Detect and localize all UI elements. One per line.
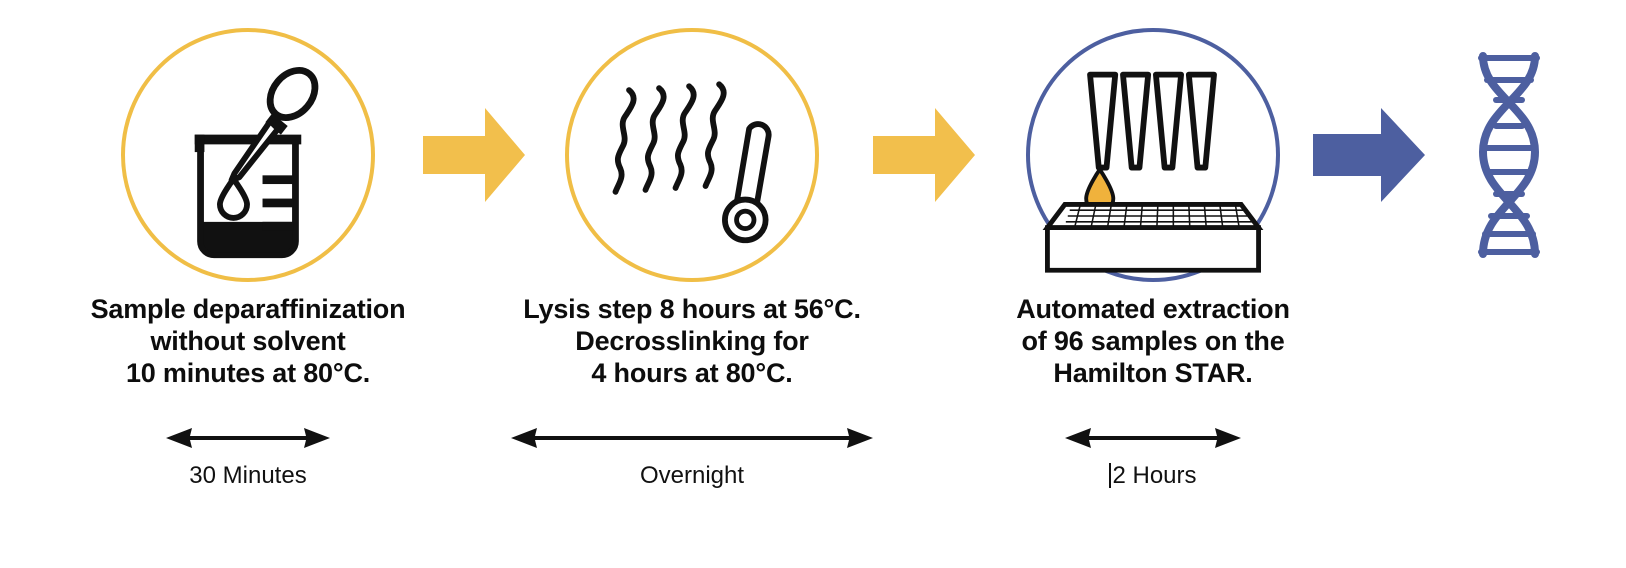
beaker-pipette-icon <box>125 32 371 278</box>
workflow-step-1: Sample deparaffinization without solvent… <box>48 0 448 568</box>
step-2-icon-badge <box>565 28 819 282</box>
pipette-tips-96-well-plate-icon <box>1030 32 1276 278</box>
dna-helix-icon <box>1463 48 1555 262</box>
caption-line: Sample deparaffinization <box>48 294 448 326</box>
caption-line: Lysis step 8 hours at 56°C. <box>470 294 914 326</box>
heat-thermometer-icon <box>569 32 815 278</box>
step-1-icon-badge <box>121 28 375 282</box>
step-2-duration-label: Overnight <box>470 462 914 490</box>
duration-label-text: 2 Hours <box>1112 462 1196 489</box>
caption-line: Decrosslinking for <box>470 326 914 358</box>
step-3-caption: Automated extraction of 96 samples on th… <box>950 294 1356 390</box>
workflow-diagram: Sample deparaffinization without solvent… <box>0 0 1626 568</box>
step-2-duration: Overnight <box>470 424 914 490</box>
step-1-duration-label: 30 Minutes <box>48 462 448 490</box>
double-headed-arrow-icon <box>1065 424 1241 452</box>
step-2-caption: Lysis step 8 hours at 56°C. Decrosslinki… <box>470 294 914 390</box>
step-2-duration-arrow <box>511 424 873 452</box>
step-3-duration: 2 Hours <box>950 424 1356 490</box>
caption-line: 4 hours at 80°C. <box>470 358 914 390</box>
double-headed-arrow-icon <box>511 424 873 452</box>
step-3-icon-badge <box>1026 28 1280 282</box>
caption-line: of 96 samples on the <box>950 326 1356 358</box>
step-1-duration: 30 Minutes <box>48 424 448 490</box>
workflow-step-2: Lysis step 8 hours at 56°C. Decrosslinki… <box>470 0 914 568</box>
workflow-step-3: Automated extraction of 96 samples on th… <box>950 0 1356 568</box>
caption-line: 10 minutes at 80°C. <box>48 358 448 390</box>
caption-line: Automated extraction <box>950 294 1356 326</box>
step-3-duration-label: 2 Hours <box>950 462 1356 490</box>
caption-line: without solvent <box>48 326 448 358</box>
step-1-caption: Sample deparaffinization without solvent… <box>48 294 448 390</box>
caption-line: Hamilton STAR. <box>950 358 1356 390</box>
dna-helix <box>1463 48 1555 262</box>
double-headed-arrow-icon <box>166 424 330 452</box>
step-3-duration-arrow <box>1065 424 1241 452</box>
right-arrow-icon <box>1313 108 1425 202</box>
connector-arrow-3 <box>1313 108 1425 202</box>
step-1-duration-arrow <box>166 424 330 452</box>
